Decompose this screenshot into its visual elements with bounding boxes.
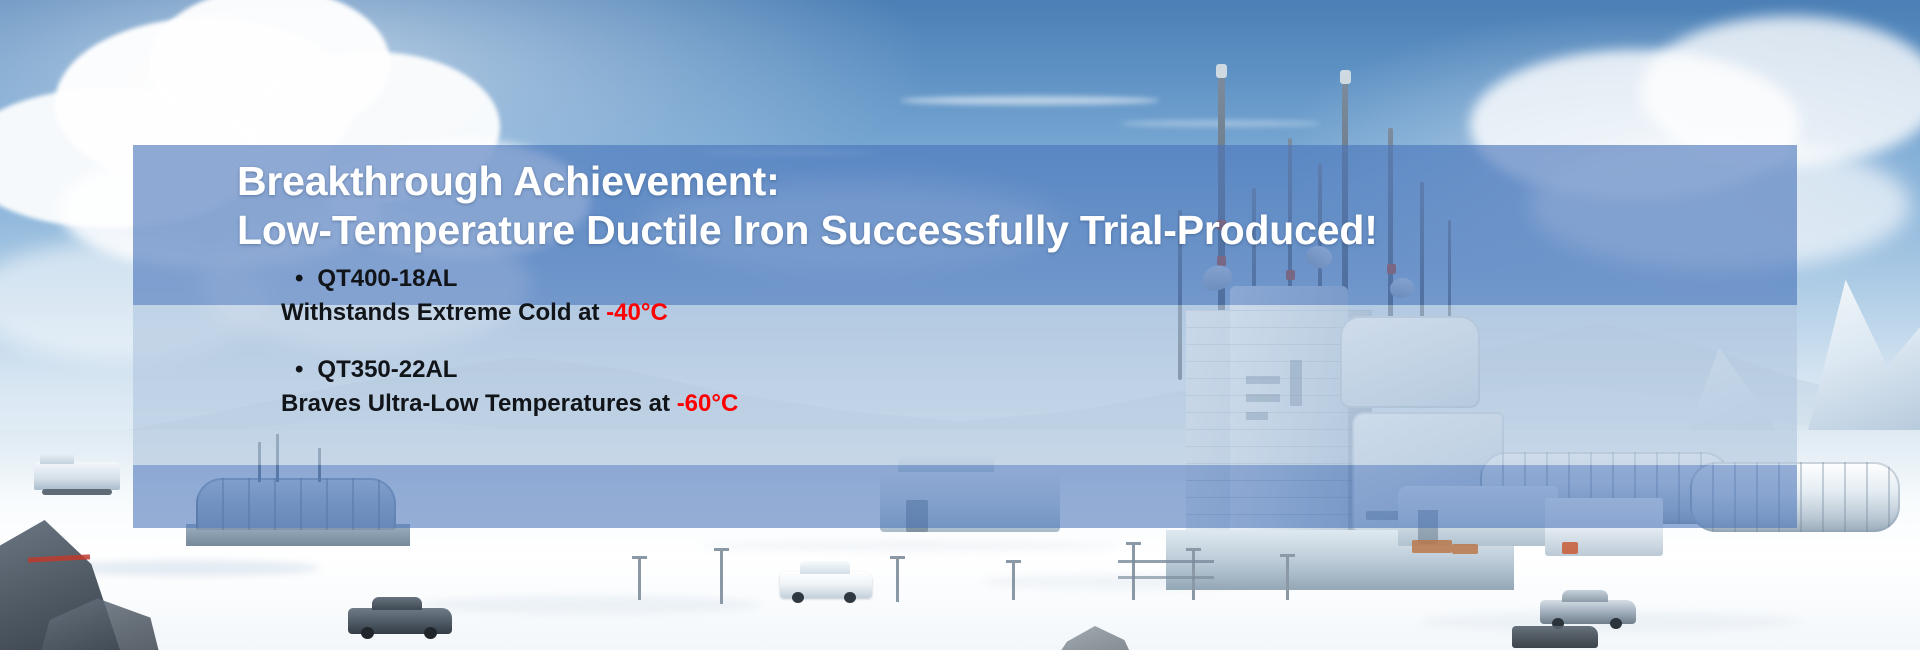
material-grade-label: QT400-18AL <box>317 263 457 295</box>
utility-pole <box>1132 542 1135 600</box>
snow-drift <box>60 560 320 576</box>
page-title: Breakthrough Achievement: Low-Temperatur… <box>237 157 1777 255</box>
supply-crate <box>1562 542 1578 554</box>
bullet-description-text: Withstands Extreme Cold at <box>281 299 606 326</box>
snow-drift <box>420 596 760 614</box>
left-utility-truck <box>34 462 120 490</box>
feature-bullet-list: • QT400-18AL Withstands Extreme Cold at … <box>281 263 1481 420</box>
bullet-heading-row: • QT400-18AL <box>281 263 1481 295</box>
material-grade-label: QT350-22AL <box>317 354 457 386</box>
utility-pole <box>1012 560 1015 600</box>
bullet-description-text: Braves Ultra-Low Temperatures at <box>281 390 677 417</box>
suv-vehicle <box>780 572 872 598</box>
vehicle-tire <box>361 627 374 639</box>
antenna-tip <box>1216 64 1227 78</box>
headline-line-2: Low-Temperature Ductile Iron Successfull… <box>237 206 1777 255</box>
sedan-vehicle-dark <box>1512 626 1598 648</box>
supply-crate <box>1412 540 1452 553</box>
list-item: • QT350-22AL Braves Ultra-Low Temperatur… <box>281 354 1481 419</box>
snow-drift <box>700 540 1120 552</box>
temperature-value: -60°C <box>677 390 739 417</box>
bullet-dot-icon: • <box>295 358 303 382</box>
vehicle-tire <box>1610 618 1622 629</box>
overlay-content: Breakthrough Achievement: Low-Temperatur… <box>133 145 1797 528</box>
fence-rail <box>1118 560 1214 563</box>
vehicle-tire <box>424 627 437 639</box>
list-item: • QT400-18AL Withstands Extreme Cold at … <box>281 263 1481 328</box>
sedan-vehicle <box>1540 600 1636 624</box>
utility-pole <box>720 548 723 604</box>
vehicle-tire <box>844 592 856 603</box>
temperature-value: -40°C <box>606 299 668 326</box>
utility-pole <box>638 556 641 600</box>
antenna-tip <box>1340 70 1351 84</box>
bullet-dot-icon: • <box>295 267 303 291</box>
bullet-heading-row: • QT350-22AL <box>281 354 1481 386</box>
headline-line-1: Breakthrough Achievement: <box>237 157 1777 206</box>
text-overlay-panel: Breakthrough Achievement: Low-Temperatur… <box>133 145 1797 528</box>
utility-pole <box>896 556 899 602</box>
bullet-description: Withstands Extreme Cold at -40°C <box>281 297 1481 329</box>
vehicle-tire <box>792 592 804 603</box>
fence-rail <box>1118 576 1214 579</box>
sedan-vehicle-foreground <box>348 608 452 634</box>
supply-crate <box>1452 544 1478 554</box>
utility-pole <box>1192 548 1195 600</box>
bullet-description: Braves Ultra-Low Temperatures at -60°C <box>281 388 1481 420</box>
promotional-banner: Breakthrough Achievement: Low-Temperatur… <box>0 0 1920 650</box>
utility-pole <box>1286 554 1289 600</box>
